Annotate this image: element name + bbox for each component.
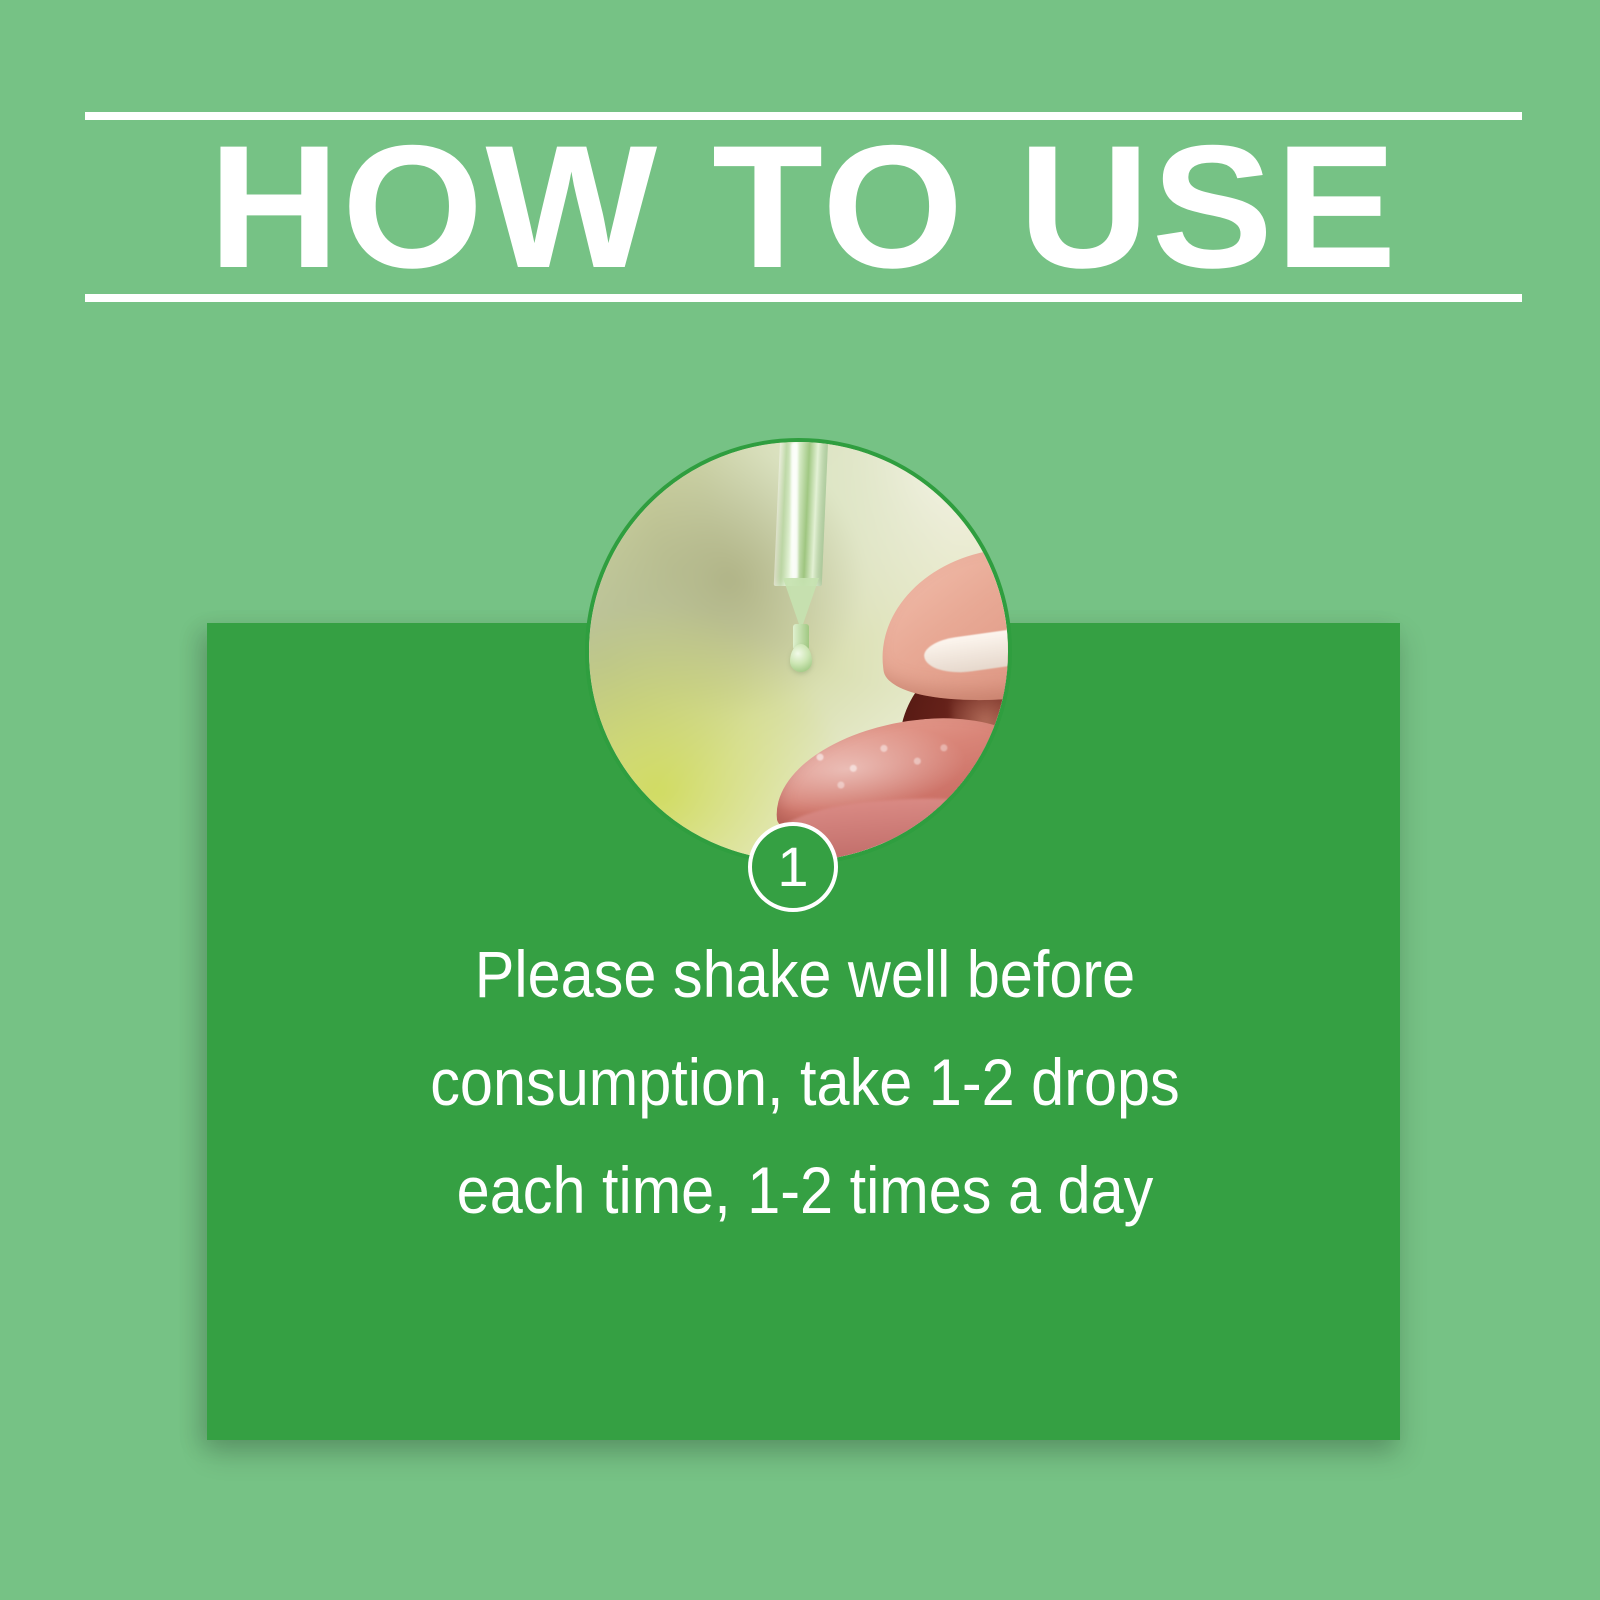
instruction-line-2: consumption, take 1-2 drops <box>315 1028 1296 1136</box>
step-instruction-text: Please shake well before consumption, ta… <box>315 920 1296 1244</box>
upper-lip <box>871 540 1008 714</box>
instruction-line-3: each time, 1-2 times a day <box>315 1136 1296 1244</box>
page-title: HOW TO USE <box>56 122 1550 294</box>
header-block: HOW TO USE <box>85 112 1522 302</box>
instruction-line-1: Please shake well before <box>315 920 1296 1028</box>
title-rule-bottom <box>85 294 1522 302</box>
open-mouth <box>759 552 1008 861</box>
how-to-use-poster: HOW TO USE 1 <box>0 0 1600 1600</box>
step-number-badge: 1 <box>748 822 838 912</box>
step-photo-circle <box>585 438 1012 865</box>
step-photo <box>589 442 1008 861</box>
